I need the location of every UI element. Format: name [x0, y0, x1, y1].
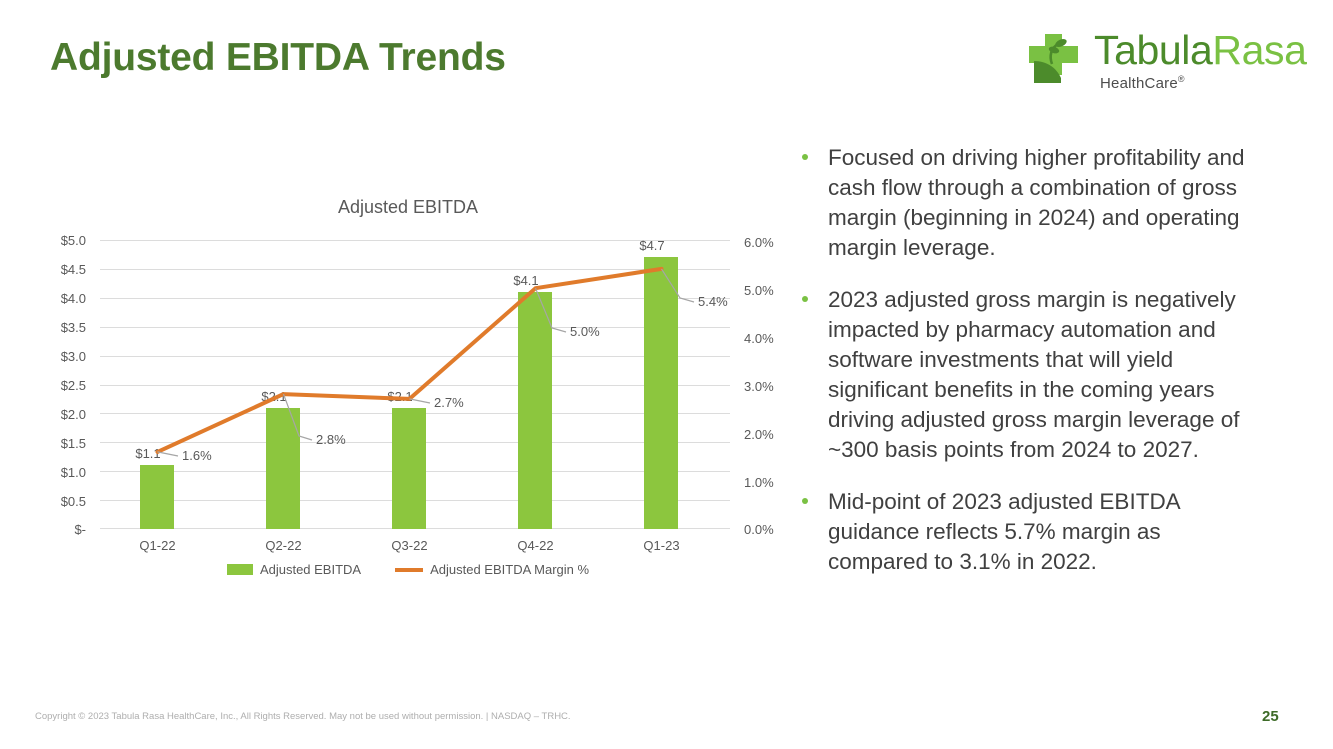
x-axis-tick-q2-22: Q2-22 — [239, 538, 329, 553]
left-axis-tick: $4.0 — [28, 291, 86, 306]
legend-item-adjusted-ebitda-margin[interactable]: Adjusted EBITDA Margin % — [395, 562, 589, 577]
page-title: Adjusted EBITDA Trends — [50, 36, 506, 80]
left-axis-tick: $2.0 — [28, 407, 86, 422]
bullet-item: 2023 adjusted gross margin is negatively… — [796, 285, 1258, 465]
x-axis-tick-q1-23: Q1-23 — [617, 538, 707, 553]
margin-label-q2-22: 2.8% — [316, 432, 346, 447]
logo-subtitle-text: HealthCare — [1100, 75, 1178, 92]
legend-item-adjusted-ebitda[interactable]: Adjusted EBITDA — [227, 562, 361, 577]
logo-subtitle: HealthCare® — [1100, 74, 1185, 92]
bullet-dot-icon — [802, 154, 808, 160]
leader-line-q3-22 — [410, 399, 431, 403]
logo-word-rasa: Rasa — [1212, 27, 1306, 73]
logo-wordmark: TabulaRasa — [1094, 27, 1307, 74]
right-axis-tick: 6.0% — [744, 235, 774, 250]
left-axis-tick: $- — [28, 522, 86, 537]
bullet-text: Mid-point of 2023 adjusted EBITDA guidan… — [828, 489, 1179, 574]
leader-line-q1-23 — [662, 269, 695, 302]
chart-plot-area: $1.1 $2.1 $2.1 $4.1 $4.7 1.6% 2.8% 2.7% … — [100, 240, 730, 529]
bullet-text: 2023 adjusted gross margin is negatively… — [828, 287, 1239, 462]
chart-legend: Adjusted EBITDA Adjusted EBITDA Margin % — [28, 562, 788, 577]
legend-label-adjusted-ebitda-margin: Adjusted EBITDA Margin % — [430, 562, 589, 577]
leader-line-q2-22 — [284, 394, 313, 440]
tabula-rasa-logo-mark — [1028, 34, 1086, 84]
leader-line-q1-22 — [158, 452, 179, 456]
left-axis-tick: $1.5 — [28, 436, 86, 451]
margin-label-q1-23: 5.4% — [698, 294, 728, 309]
right-axis-tick: 0.0% — [744, 522, 774, 537]
left-axis-tick: $4.5 — [28, 262, 86, 277]
margin-line-series — [100, 240, 730, 529]
legend-label-adjusted-ebitda: Adjusted EBITDA — [260, 562, 361, 577]
registered-mark-icon: ® — [1178, 74, 1185, 84]
left-axis-tick: $0.5 — [28, 494, 86, 509]
margin-label-q1-22: 1.6% — [182, 448, 212, 463]
copyright-footer: Copyright © 2023 Tabula Rasa HealthCare,… — [35, 711, 571, 722]
left-axis-tick: $2.5 — [28, 378, 86, 393]
legend-line-swatch-icon — [395, 568, 423, 572]
chart-title: Adjusted EBITDA — [28, 197, 788, 218]
margin-label-q3-22: 2.7% — [434, 395, 464, 410]
right-axis-tick: 3.0% — [744, 379, 774, 394]
bullet-list: Focused on driving higher profitability … — [796, 143, 1258, 599]
bullet-text: Focused on driving higher profitability … — [828, 145, 1245, 260]
logo-word-tabula: Tabula — [1094, 27, 1212, 73]
left-axis-tick: $1.0 — [28, 465, 86, 480]
right-axis-tick: 4.0% — [744, 331, 774, 346]
left-axis-tick: $3.5 — [28, 320, 86, 335]
left-axis-tick: $5.0 — [28, 233, 86, 248]
x-axis-tick-q3-22: Q3-22 — [365, 538, 455, 553]
bullet-dot-icon — [802, 498, 808, 504]
bullet-item: Focused on driving higher profitability … — [796, 143, 1258, 263]
x-axis-tick-q4-22: Q4-22 — [491, 538, 581, 553]
margin-line — [158, 269, 662, 452]
right-axis-tick: 2.0% — [744, 427, 774, 442]
x-axis-tick-q1-22: Q1-22 — [113, 538, 203, 553]
bullet-item: Mid-point of 2023 adjusted EBITDA guidan… — [796, 487, 1258, 577]
adjusted-ebitda-chart: Adjusted EBITDA $5.0 $4.5 $4.0 $3.5 $3.0… — [28, 190, 788, 590]
legend-bar-swatch-icon — [227, 564, 253, 575]
margin-label-q4-22: 5.0% — [570, 324, 600, 339]
company-logo: TabulaRasa HealthCare® — [1028, 30, 1300, 92]
right-axis-tick: 1.0% — [744, 475, 774, 490]
leader-line-q4-22 — [536, 288, 567, 332]
left-axis-tick: $3.0 — [28, 349, 86, 364]
page-number: 25 — [1262, 708, 1279, 725]
bullet-dot-icon — [802, 296, 808, 302]
right-axis-tick: 5.0% — [744, 283, 774, 298]
